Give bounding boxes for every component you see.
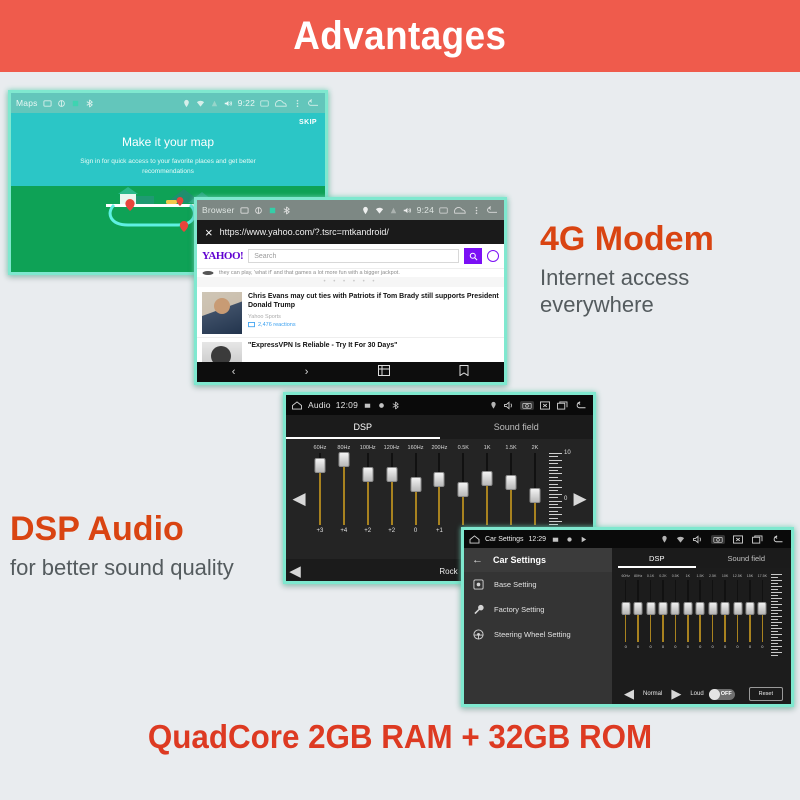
car-eq-band-knob[interactable] (634, 602, 643, 615)
eq-band[interactable]: 120Hz+2 (381, 445, 403, 559)
eq-band-track[interactable] (462, 453, 464, 525)
eq-band-value: +3 (317, 528, 324, 534)
back-icon[interactable] (307, 99, 320, 108)
close-icon[interactable]: × (205, 226, 213, 239)
car-eq-band-knob[interactable] (621, 602, 630, 615)
car-eq-band-label: 15K (747, 574, 753, 578)
preset-prev-arrow[interactable]: ◀ (620, 686, 638, 702)
car-settings-menu-item[interactable]: Base Setting (464, 572, 612, 597)
eq-band-label: 80Hz (337, 445, 350, 451)
close-box-icon[interactable] (732, 535, 744, 544)
tab-dsp[interactable]: DSP (286, 415, 440, 439)
eq-band-knob[interactable] (338, 452, 349, 467)
maps-status-bar: Maps 9:22 (11, 93, 325, 113)
car-eq-band-track[interactable] (675, 580, 677, 642)
car-app-label: Car Settings (485, 536, 524, 543)
eq-band-label: 2K (532, 445, 539, 451)
eq-band-knob[interactable] (529, 488, 540, 503)
toggle-state-label: OFF (721, 691, 732, 697)
car-eq-band-value: 0 (749, 644, 751, 649)
car-eq-band-label: 10K (722, 574, 728, 578)
car-clock: 12:29 (529, 536, 547, 543)
preset-next-arrow[interactable]: ▶ (667, 686, 685, 702)
car-eq-scale-tick (771, 631, 778, 632)
recent-apps-icon[interactable] (751, 535, 764, 544)
car-eq-band-label: 1.5K (697, 574, 704, 578)
car-eq-scale-tick (771, 604, 782, 605)
location-icon (182, 99, 191, 108)
ticker-text: they can play, 'what if' and that games … (219, 270, 400, 276)
eq-band-track[interactable] (391, 453, 393, 525)
car-eq-panel: 60Hz080Hz00.1K00.2K00.5K01K01.5K02.5K010… (612, 568, 791, 668)
yahoo-ticker: they can play, 'what if' and that games … (197, 269, 504, 277)
forward-icon[interactable]: › (305, 366, 309, 378)
car-settings-title: Car Settings (493, 555, 546, 565)
wifi-icon (676, 535, 685, 544)
eq-band-track[interactable] (438, 453, 440, 525)
eq-band-value: +2 (388, 528, 395, 534)
car-eq-scale-tick (771, 625, 778, 626)
close-box-icon[interactable] (539, 401, 551, 410)
car-eq-band-label: 1K (686, 574, 690, 578)
car-eq-band-fill (650, 612, 652, 642)
reset-button[interactable]: Reset (749, 687, 783, 701)
news-headline[interactable]: Chris Evans may cut ties with Patriots i… (248, 292, 499, 311)
car-settings-menu-label: Base Setting (494, 580, 537, 589)
car-eq-band[interactable]: 1K0 (682, 574, 693, 649)
car-eq-band-knob[interactable] (646, 602, 655, 615)
car-eq-band-track[interactable] (662, 580, 664, 642)
preset-loud-label[interactable]: Loud (690, 691, 703, 697)
news-item[interactable]: Chris Evans may cut ties with Patriots i… (197, 287, 504, 338)
maps-clock: 9:22 (238, 98, 255, 108)
car-eq-band-track[interactable] (687, 580, 689, 642)
eq-scale-tick (549, 463, 558, 464)
tab-sound-field[interactable]: Sound field (440, 415, 594, 439)
car-eq-scale-tick (771, 607, 778, 608)
eq-band-fill (343, 460, 345, 525)
preset-normal-label[interactable]: Normal (643, 691, 662, 697)
car-eq-band[interactable]: 2.5K0 (707, 574, 718, 649)
back-arrow-icon[interactable]: ← (472, 554, 483, 566)
car-eq-band[interactable]: 0.5K0 (670, 574, 681, 649)
news-source: Yahoo Sports (248, 314, 499, 320)
car-eq-band-track[interactable] (737, 580, 739, 642)
car-eq-band[interactable]: 80Hz0 (632, 574, 643, 649)
car-status-bar: Car Settings 12:29 (464, 530, 612, 548)
car-eq-scale-tick (771, 634, 782, 635)
car-eq-scale-tick (771, 616, 782, 617)
eq-scale-tick (549, 494, 562, 495)
browser-status-bar: Browser 9:24 (197, 200, 504, 220)
eq-scale-tick (549, 470, 558, 471)
car-eq-band-value: 0 (637, 644, 639, 649)
car-eq-scale-tick (771, 595, 778, 596)
car-eq-band-track[interactable] (749, 580, 751, 642)
screenshot-icon (439, 206, 448, 215)
sd-card-icon (240, 206, 249, 215)
copy-4g-modem: 4G Modem Internet access everywhere (540, 222, 795, 319)
car-eq-band-track[interactable] (650, 580, 652, 642)
eq-band-track[interactable] (510, 453, 512, 525)
steering-wheel-icon (473, 629, 484, 640)
eq-scale-mid: 0 (564, 496, 567, 502)
battery-icon (71, 99, 80, 108)
car-eq-band-knob[interactable] (758, 602, 767, 615)
eq-band-value: +1 (436, 528, 443, 534)
car-eq-band-track[interactable] (625, 580, 627, 642)
eq-band-value: +2 (364, 528, 371, 534)
overflow-menu-icon[interactable] (472, 206, 481, 215)
eq-band-track[interactable] (319, 453, 321, 525)
tab-dsp[interactable]: DSP (612, 548, 702, 568)
eq-band-label: 100Hz (360, 445, 376, 451)
car-eq-band-fill (637, 612, 639, 642)
car-eq-band[interactable]: 0.2K0 (657, 574, 668, 649)
search-icon[interactable] (464, 248, 482, 264)
eq-scale-tick (549, 501, 562, 502)
eq-scale-tick (549, 467, 562, 468)
car-eq-band-track[interactable] (762, 580, 764, 642)
eq-scale-tick (549, 518, 558, 519)
car-eq-scale-tick (771, 652, 782, 653)
recent-apps-icon[interactable] (556, 401, 569, 410)
car-settings-menu-item[interactable]: Steering Wheel Setting (464, 622, 612, 647)
car-settings-menu-label: Factory Setting (494, 605, 544, 614)
car-eq-band-fill (724, 612, 726, 642)
eq-band-knob[interactable] (410, 477, 421, 492)
car-eq-band-knob[interactable] (671, 602, 680, 615)
copy-dsp-title: DSP Audio (10, 512, 260, 548)
location-icon (361, 206, 370, 215)
car-eq-band-track[interactable] (699, 580, 701, 642)
maps-app-label: Maps (16, 98, 38, 108)
screenshot-icon (260, 99, 269, 108)
account-icon[interactable] (487, 250, 499, 262)
settings-square-icon (473, 579, 484, 590)
signal-icon (389, 206, 398, 215)
car-eq-band[interactable]: 1.5K0 (695, 574, 706, 649)
yahoo-logo[interactable]: YAHOO! (202, 250, 243, 262)
car-eq-footer: ◀ Normal ▶ Loud OFF Reset (612, 686, 791, 702)
car-eq-scale-tick (771, 598, 782, 599)
tabs-icon[interactable] (378, 365, 390, 379)
car-settings-menu-label: Steering Wheel Setting (494, 630, 571, 639)
eq-band-track[interactable] (486, 453, 488, 525)
eq-scale-tick (549, 477, 558, 478)
eq-scale-tick (549, 484, 558, 485)
car-eq-scale-tick (771, 580, 782, 581)
car-eq-band-list: 60Hz080Hz00.1K00.2K00.5K01K01.5K02.5K010… (620, 574, 768, 649)
car-eq-band-fill (662, 612, 664, 642)
car-eq-band-track[interactable] (724, 580, 726, 642)
eq-band-track[interactable] (415, 453, 417, 525)
comment-icon (248, 322, 255, 328)
car-eq-scale-tick (771, 619, 778, 620)
car-eq-band-fill (762, 612, 764, 642)
eq-band-fill (391, 475, 393, 525)
eq-band[interactable]: 60Hz+3 (309, 445, 331, 559)
yahoo-search-input[interactable]: Search (248, 249, 459, 263)
reactions-count: 2,476 reactions (258, 322, 296, 328)
eq-band-label: 0.5K (458, 445, 469, 451)
eq-scale-tick (549, 511, 558, 512)
car-eq-scale-tick (771, 613, 778, 614)
eq-scale-tick (549, 524, 558, 525)
car-eq-band[interactable]: 17.5K0 (757, 574, 768, 649)
car-settings-menu: Base SettingFactory SettingSteering Whee… (464, 572, 612, 647)
eq-scale-tick (549, 514, 562, 515)
car-eq-band-label: 0.2K (659, 574, 666, 578)
car-eq-band-value: 0 (662, 644, 664, 649)
volume-icon (403, 206, 412, 215)
browser-url-bar[interactable]: × https://www.yahoo.com/?.tsrc=mtkandroi… (197, 220, 504, 244)
browser-screenshot: Browser 9:24 × https://www.yahoo.com/?.t… (194, 197, 507, 385)
eq-scale-tick (549, 490, 558, 491)
car-eq-band-label: 0.5K (672, 574, 679, 578)
car-settings-menu-item[interactable]: Factory Setting (464, 597, 612, 622)
audio-status-bar: Audio 12:09 (286, 395, 593, 415)
eq-band-value: +4 (340, 528, 347, 534)
browser-clock: 9:24 (417, 205, 434, 215)
car-eq-band-value: 0 (687, 644, 689, 649)
wifi-icon (196, 99, 205, 108)
eq-band-fill (319, 466, 321, 525)
news-text: Chris Evans may cut ties with Patriots i… (248, 292, 499, 334)
bluetooth-icon (391, 401, 400, 410)
eq-band-knob[interactable] (386, 467, 397, 482)
yahoo-page: YAHOO! Search they can play, 'what if' a… (197, 244, 504, 362)
car-eq-scale-tick (771, 601, 778, 602)
screenshot-icon[interactable] (520, 401, 534, 410)
car-eq-band-knob[interactable] (733, 602, 742, 615)
car-settings-panel: Car Settings 12:29 ← Car Settings Base S… (464, 530, 612, 704)
sd-card-icon (363, 401, 372, 410)
car-dsp-status-bar (612, 530, 791, 548)
eq-band-track[interactable] (534, 453, 536, 525)
yahoo-header: YAHOO! Search (197, 244, 504, 269)
maps-subtext: Sign in for quick access to your favorit… (63, 157, 273, 177)
record-icon (565, 535, 574, 544)
car-eq-band-track[interactable] (637, 580, 639, 642)
usb-icon (57, 99, 66, 108)
audio-tab-bar: DSP Sound field (286, 415, 593, 439)
car-eq-band-value: 0 (736, 644, 738, 649)
eq-band[interactable]: 100Hz+2 (357, 445, 379, 559)
volume-icon[interactable] (692, 535, 704, 544)
copy-dsp-audio: DSP Audio for better sound quality (10, 512, 260, 581)
eq-band-knob[interactable] (362, 467, 373, 482)
url-text: https://www.yahoo.com/?.tsrc=mtkandroid/ (220, 227, 389, 237)
eq-scale-tick (549, 453, 562, 454)
eq-band-label: 60Hz (314, 445, 327, 451)
car-eq-scale-tick (771, 637, 778, 638)
car-eq-scale-tick (771, 622, 782, 623)
car-eq-band-knob[interactable] (696, 602, 705, 615)
car-eq-band[interactable]: 60Hz0 (620, 574, 631, 649)
wifi-icon (375, 206, 384, 215)
car-eq-band-fill (699, 612, 701, 642)
overflow-menu-icon[interactable] (293, 99, 302, 108)
tab-sound-field[interactable]: Sound field (702, 548, 792, 568)
wrench-icon (473, 604, 484, 615)
audio-app-label: Audio (308, 400, 331, 410)
car-eq-scale-tick (771, 586, 782, 587)
battery-icon (268, 206, 277, 215)
news-thumbnail (202, 292, 242, 334)
back-icon[interactable] (486, 206, 499, 215)
news-reactions[interactable]: 2,476 reactions (248, 322, 499, 328)
car-eq-scale (771, 574, 785, 658)
eq-band-label: 1K (484, 445, 491, 451)
eq-scale-tick (549, 480, 562, 481)
sd-card-icon (43, 99, 52, 108)
eq-scale-tick (549, 460, 562, 461)
car-eq-band-value: 0 (712, 644, 714, 649)
maps-skip-button[interactable]: SKIP (299, 119, 317, 126)
car-eq-band-track[interactable] (712, 580, 714, 642)
eq-band-knob[interactable] (434, 472, 445, 487)
signal-icon (210, 99, 219, 108)
car-settings-header: ← Car Settings (464, 548, 612, 572)
car-eq-band-label: 80Hz (634, 574, 642, 578)
eq-band-track[interactable] (343, 453, 345, 525)
news-thumbnail (202, 342, 242, 362)
car-eq-band-value: 0 (625, 644, 627, 649)
eq-band-knob[interactable] (458, 482, 469, 497)
bluetooth-icon (282, 206, 291, 215)
eq-band-fill (367, 475, 369, 525)
eq-scale-tick (549, 507, 562, 508)
eq-band-label: 200Hz (431, 445, 447, 451)
footer-specs: QuadCore 2GB RAM + 32GB ROM (20, 718, 780, 756)
car-eq-band[interactable]: 10K0 (719, 574, 730, 649)
header-banner: Advantages (0, 0, 800, 72)
car-eq-band-fill (749, 612, 751, 642)
sd-card-icon (551, 535, 560, 544)
eq-band[interactable]: 200Hz+1 (428, 445, 450, 559)
car-eq-band-fill (625, 612, 627, 642)
car-eq-band-knob[interactable] (745, 602, 754, 615)
car-dsp-panel: DSP Sound field 60Hz080Hz00.1K00.2K00.5K… (612, 530, 791, 704)
car-eq-band-label: 2.5K (709, 574, 716, 578)
eq-scale-tick (549, 521, 562, 522)
car-eq-band-fill (712, 612, 714, 642)
eq-scale-tick (549, 497, 558, 498)
car-eq-band-knob[interactable] (683, 602, 692, 615)
eq-band[interactable]: 80Hz+4 (333, 445, 355, 559)
car-eq-band-value: 0 (761, 644, 763, 649)
back-icon[interactable] (574, 401, 588, 410)
car-settings-screenshot: Car Settings 12:29 ← Car Settings Base S… (461, 527, 794, 707)
car-eq-scale-tick (771, 589, 778, 590)
car-eq-band-fill (675, 612, 677, 642)
news-headline[interactable]: "ExpressVPN Is Reliable - Try It For 30 … (248, 342, 397, 362)
browser-app-label: Browser (202, 205, 235, 215)
eq-scale-tick (549, 456, 558, 457)
car-eq-band[interactable]: 0.1K0 (645, 574, 656, 649)
location-icon (489, 401, 498, 410)
usb-icon (254, 206, 263, 215)
preset-prev-arrow[interactable]: ◀ (286, 562, 304, 580)
copy-4g-subtitle: Internet access everywhere (540, 264, 795, 319)
audio-clock: 12:09 (336, 400, 358, 410)
loudness-toggle[interactable]: OFF (709, 689, 735, 700)
eq-band-value: 0 (414, 528, 417, 534)
eq-band-knob[interactable] (482, 471, 493, 486)
play-icon (579, 535, 588, 544)
home-icon[interactable] (469, 535, 480, 544)
car-eq-scale-tick (771, 643, 778, 644)
car-eq-band-knob[interactable] (658, 602, 667, 615)
car-eq-scale-tick (771, 610, 782, 611)
car-eq-scale-tick (771, 646, 782, 647)
home-icon[interactable] (291, 401, 303, 410)
eq-band-label: 160Hz (408, 445, 424, 451)
car-eq-scale-tick (771, 592, 782, 593)
cloud-icon (453, 206, 467, 215)
car-eq-scale-tick (771, 583, 778, 584)
eq-scale-tick (549, 504, 558, 505)
bookmark-icon[interactable] (459, 365, 469, 379)
toggle-knob (709, 689, 720, 700)
car-eq-band-label: 17.5K (758, 574, 767, 578)
car-eq-scale-tick (771, 649, 778, 650)
volume-icon (224, 99, 233, 108)
eq-next-arrow[interactable]: ▶ (571, 489, 589, 509)
car-eq-band-label: 0.1K (647, 574, 654, 578)
car-eq-scale-tick (771, 628, 782, 629)
car-eq-scale-tick (771, 640, 782, 641)
back-icon[interactable] (771, 535, 785, 544)
eq-band-track[interactable] (367, 453, 369, 525)
ticker-icon (202, 270, 214, 276)
eq-band-knob[interactable] (506, 475, 517, 490)
eq-scale-top: 10 (564, 450, 571, 456)
car-eq-band-value: 0 (674, 644, 676, 649)
car-eq-band-knob[interactable] (721, 602, 730, 615)
car-eq-band-knob[interactable] (708, 602, 717, 615)
eq-prev-arrow[interactable]: ◀ (290, 489, 308, 509)
back-icon[interactable]: ‹ (232, 366, 236, 378)
eq-band-label: 120Hz (384, 445, 400, 451)
eq-scale-tick (549, 473, 562, 474)
car-eq-band-fill (687, 612, 689, 642)
eq-band[interactable]: 160Hz0 (405, 445, 427, 559)
maps-headline: Make it your map (11, 135, 325, 149)
copy-dsp-subtitle: for better sound quality (10, 554, 260, 582)
carousel-dots[interactable]: • • • • • • (197, 277, 504, 287)
car-eq-band-value: 0 (724, 644, 726, 649)
screenshot-icon[interactable] (711, 535, 725, 544)
eq-band-knob[interactable] (314, 458, 325, 473)
car-eq-band[interactable]: 15K0 (744, 574, 755, 649)
car-eq-band-value: 0 (699, 644, 701, 649)
copy-4g-title: 4G Modem (540, 222, 795, 258)
eq-scale-tick (549, 487, 562, 488)
car-eq-band[interactable]: 12.5K0 (732, 574, 743, 649)
car-eq-scale-tick (771, 577, 778, 578)
volume-icon[interactable] (503, 401, 515, 410)
car-eq-scale-tick (771, 655, 778, 656)
car-eq-band-label: 12.5K (733, 574, 742, 578)
news-item[interactable]: "ExpressVPN Is Reliable - Try It For 30 … (197, 338, 504, 362)
cloud-icon (274, 99, 288, 108)
bluetooth-icon (85, 99, 94, 108)
record-icon (377, 401, 386, 410)
car-eq-band-fill (737, 612, 739, 642)
car-dsp-tab-bar: DSP Sound field (612, 548, 791, 568)
